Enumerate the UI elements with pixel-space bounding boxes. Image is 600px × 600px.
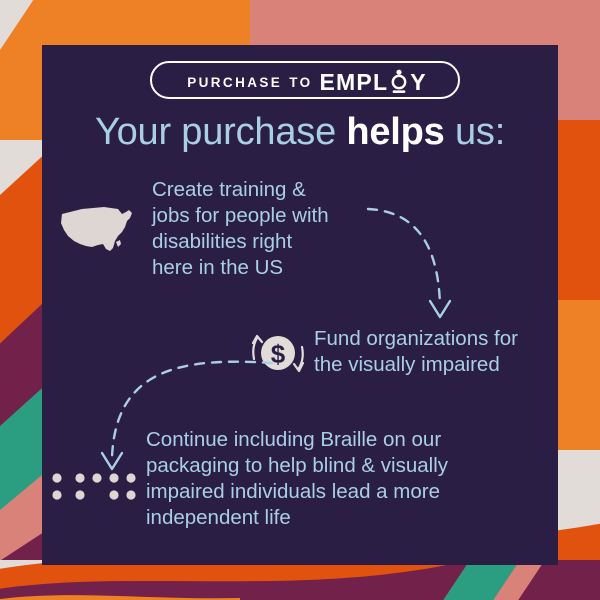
page-title: Your purchase helps us: (42, 111, 558, 154)
logo-word-purchase: PURCHASE (187, 75, 282, 90)
headline-part-after: us: (445, 111, 505, 153)
logo-employ-prefix: EMPL (320, 69, 389, 96)
us-map-icon (56, 200, 140, 258)
purchase-to-employ-logo: PURCHASE TO EMPL Y (150, 61, 460, 99)
braille-dots-icon (48, 469, 138, 505)
item-1-text: Create training & jobs for people with d… (152, 177, 382, 281)
item-2-text: Fund organizations for the visually impa… (314, 326, 558, 378)
logo-word-employ: EMPL Y (320, 69, 427, 96)
employ-person-o-icon (389, 69, 409, 95)
headline-part-before: Your purchase (95, 111, 346, 153)
headline-emphasis: helps (346, 111, 444, 153)
item-3-text: Continue including Braille on our packag… (146, 427, 496, 531)
logo-employ-suffix: Y (410, 69, 427, 96)
infographic-card: PURCHASE TO EMPL Y Your purchase (42, 45, 558, 565)
dashed-arrow-one (360, 197, 480, 337)
logo-wordmark: PURCHASE TO EMPL Y (152, 63, 462, 101)
infographic-canvas: PURCHASE TO EMPL Y Your purchase (0, 0, 600, 600)
logo-word-to: TO (289, 75, 312, 90)
